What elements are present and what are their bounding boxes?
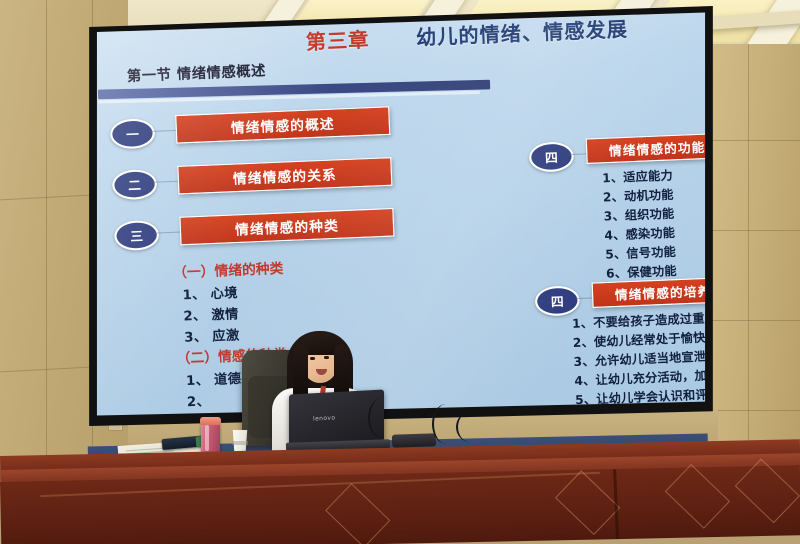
left-numeral-1: 一	[110, 118, 156, 149]
left-box-2: 情绪情感的关系	[177, 157, 392, 194]
laptop-brand-logo: lenovo	[313, 414, 335, 422]
water-bottle-cap	[200, 417, 221, 425]
projection-screen: 第三章 幼儿的情绪、情感发展 第一节 情绪情感概述 一 情绪情感的概述 二 情绪…	[92, 10, 710, 418]
right-box-1: 情绪情感的功能	[586, 133, 710, 164]
right-numeral-1: 四	[529, 141, 575, 172]
right-box-2: 情绪情感的培养	[592, 277, 710, 308]
podium-panel-divider	[613, 469, 619, 539]
right-list-item: 4、感染功能	[604, 224, 675, 244]
right-list-item: 5、信号功能	[605, 243, 676, 263]
presenter-eye-left	[310, 357, 315, 360]
podium-diamond-inlay	[555, 470, 620, 535]
left-list-item: 2、 激情	[183, 302, 239, 324]
podium-diamond-inlay	[665, 464, 730, 529]
left-list-item: 3、 应激	[184, 324, 240, 346]
cable	[368, 398, 396, 438]
left-list-item: 2、	[187, 389, 211, 410]
microphone	[392, 433, 436, 448]
cable	[456, 412, 484, 442]
right-list-item: 2、动机功能	[603, 186, 674, 206]
presenter-eye-right	[324, 356, 329, 359]
right-numeral-2: 四	[534, 285, 580, 316]
podium-diamond-inlay	[325, 483, 390, 544]
left-box-1: 情绪情感的概述	[175, 106, 390, 143]
left-box-3: 情绪情感的种类	[179, 208, 394, 245]
left-numeral-2: 二	[112, 169, 158, 200]
left-numeral-3: 三	[114, 220, 160, 251]
water-bottle-highlight	[205, 425, 209, 451]
podium-diamond-inlay	[735, 459, 800, 524]
presentation-slide: 第三章 幼儿的情绪、情感发展 第一节 情绪情感概述 一 情绪情感的概述 二 情绪…	[92, 10, 710, 418]
slide-chapter-title: 第三章	[305, 24, 370, 55]
paper-cup-band	[232, 441, 248, 445]
left-list-item: 1、 心境	[182, 281, 238, 303]
lecture-hall-scene: 第三章 幼儿的情绪、情感发展 第一节 情绪情感概述 一 情绪情感的概述 二 情绪…	[0, 0, 800, 544]
left-subheading-1: （一）情绪的种类	[173, 257, 284, 282]
right-list-item: 3、组织功能	[603, 205, 674, 225]
slide-section-title: 第一节 情绪情感概述	[126, 58, 266, 85]
right-list-item: 1、适应能力	[602, 167, 673, 187]
